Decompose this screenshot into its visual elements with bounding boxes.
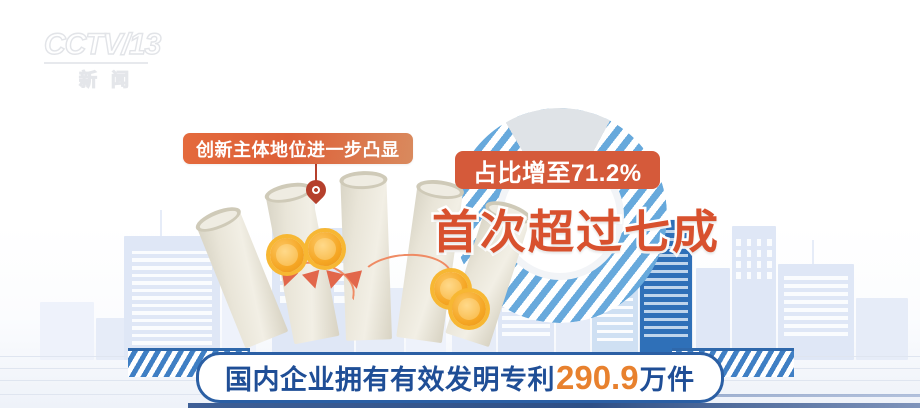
channel-logo-sub: 新闻	[44, 71, 164, 89]
lower-third-bar	[188, 403, 920, 408]
banner-number: 290.9	[556, 359, 639, 397]
building-windows	[784, 276, 848, 355]
infographic-stage: 创新主体地位进一步凸显 占比增至71.2% 首次超过七成 国内企业拥有有效发明专…	[0, 0, 920, 408]
channel-logo-text: CCTV/13	[44, 30, 164, 60]
stat-badge: 占比增至71.2%	[455, 151, 660, 189]
banner-text-before: 国内企业拥有有效发明专利	[225, 358, 555, 397]
building-windows	[736, 239, 771, 352]
callout-label: 创新主体地位进一步凸显	[183, 133, 413, 164]
building-windows	[132, 251, 213, 353]
award-seal	[452, 292, 486, 326]
page-headline: 首次超过七成	[432, 196, 720, 262]
channel-logo: CCTV/13 新闻	[44, 30, 164, 89]
bottom-banner: 国内企业拥有有效发明专利 290.9 万件	[196, 352, 724, 403]
city-building	[732, 226, 776, 360]
city-building	[778, 264, 854, 360]
award-seal	[308, 232, 342, 266]
channel-logo-rule	[44, 62, 148, 64]
banner-text-after: 万件	[640, 358, 695, 397]
city-building	[124, 236, 220, 360]
award-seal	[270, 238, 304, 272]
city-building	[696, 268, 730, 360]
